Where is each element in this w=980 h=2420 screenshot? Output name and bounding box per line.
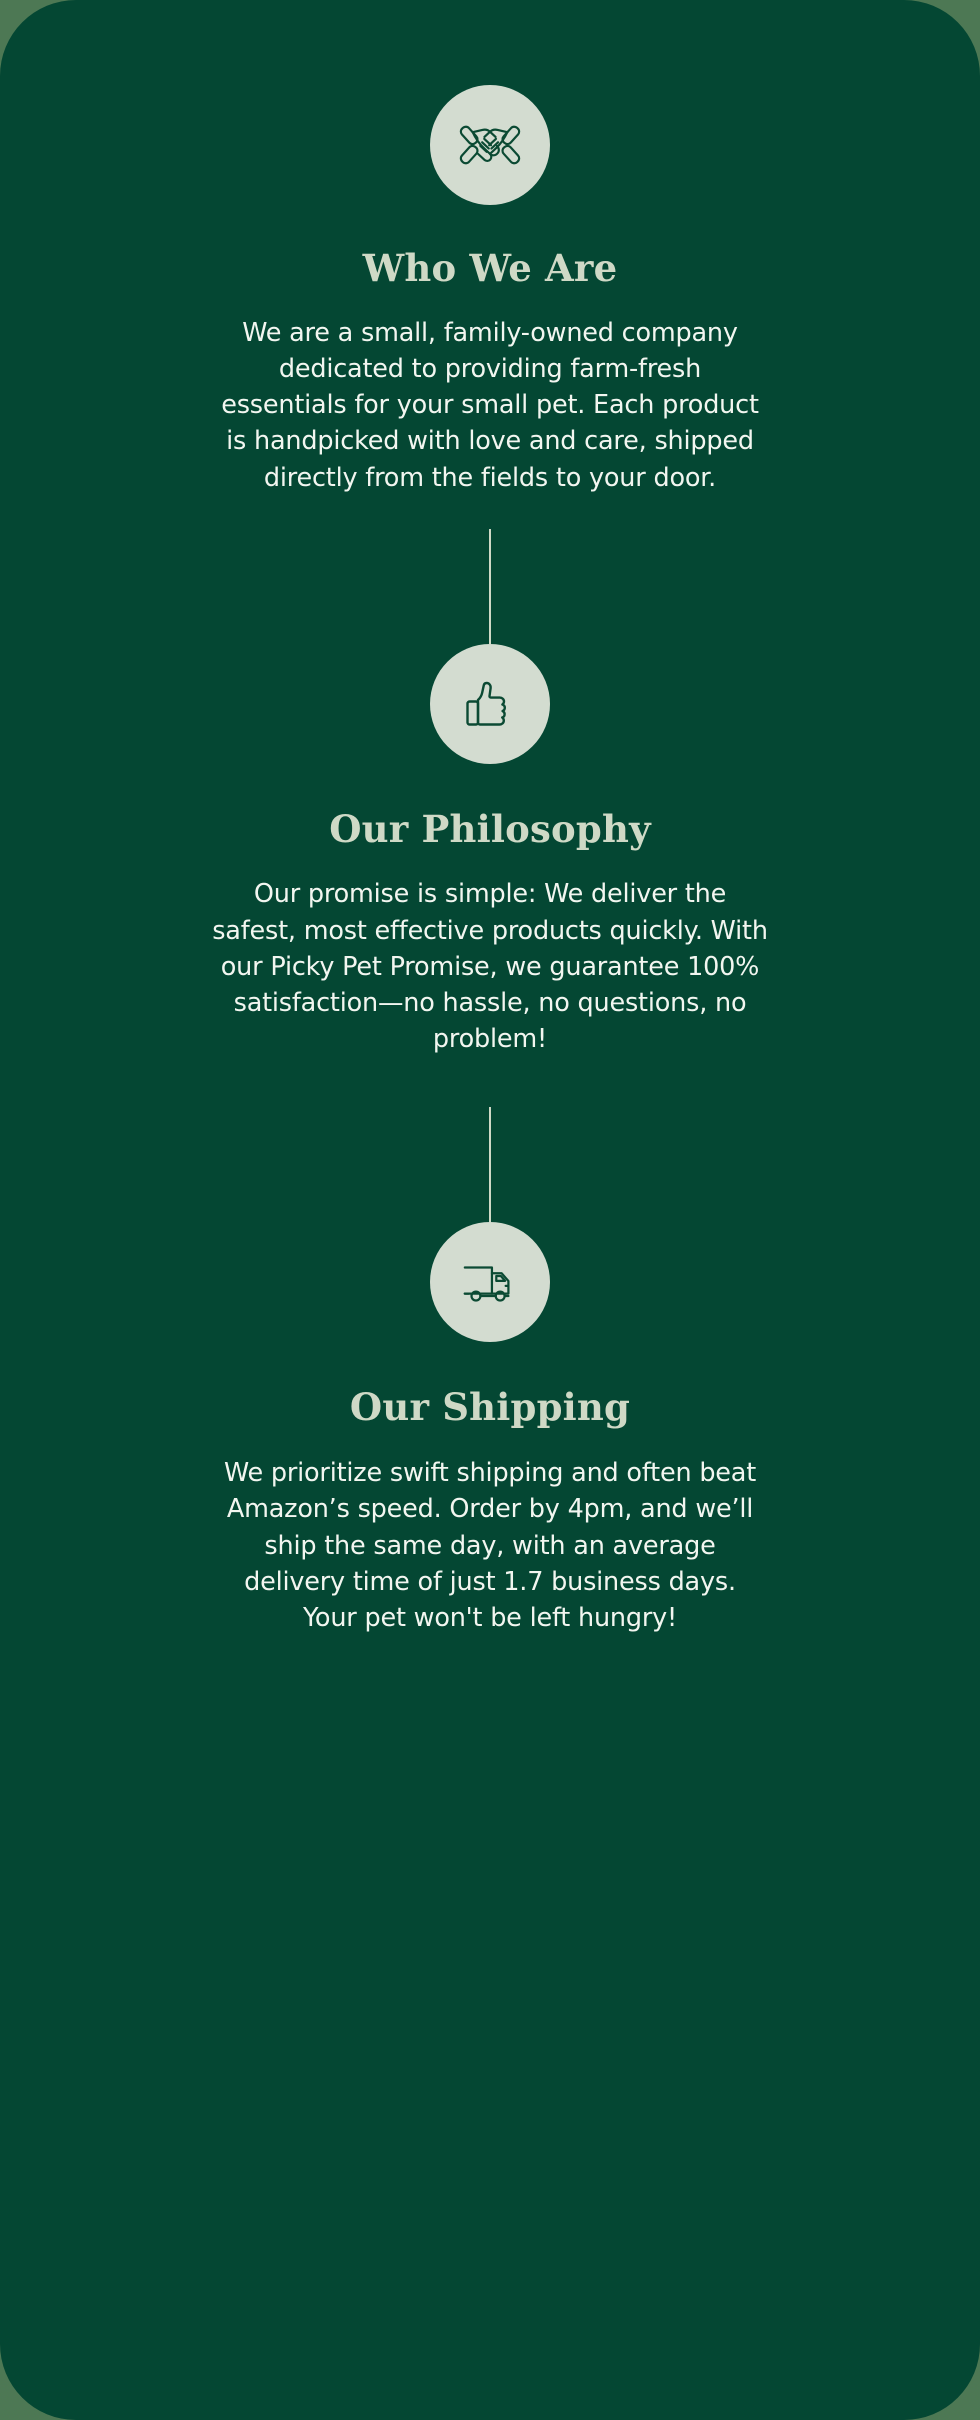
thumbs-up-icon: [458, 672, 522, 736]
badge-our-shipping: [430, 1222, 550, 1342]
section-stack: Who We Are We are a small, family-owned …: [0, 0, 980, 2420]
heading-who-we-are: Who We Are: [363, 248, 618, 289]
badge-who-we-are: [430, 85, 550, 205]
section-our-shipping: Our Shipping We prioritize swift shippin…: [0, 1222, 980, 1636]
teamwork-handshake-icon: [457, 112, 523, 178]
connector-line-2: [489, 1107, 491, 1222]
body-our-shipping: We prioritize swift shipping and often b…: [220, 1455, 760, 1636]
heading-our-philosophy: Our Philosophy: [329, 809, 651, 850]
body-our-philosophy: Our promise is simple: We deliver the sa…: [210, 876, 770, 1057]
section-who-we-are: Who We Are We are a small, family-owned …: [0, 0, 980, 496]
badge-our-philosophy: [430, 644, 550, 764]
section-our-philosophy: Our Philosophy Our promise is simple: We…: [0, 644, 980, 1058]
delivery-truck-icon: [459, 1251, 521, 1313]
body-who-we-are: We are a small, family-owned company ded…: [220, 315, 760, 496]
connector-line-1: [489, 529, 491, 644]
about-us-panel: Who We Are We are a small, family-owned …: [0, 0, 980, 2420]
heading-our-shipping: Our Shipping: [350, 1387, 630, 1428]
